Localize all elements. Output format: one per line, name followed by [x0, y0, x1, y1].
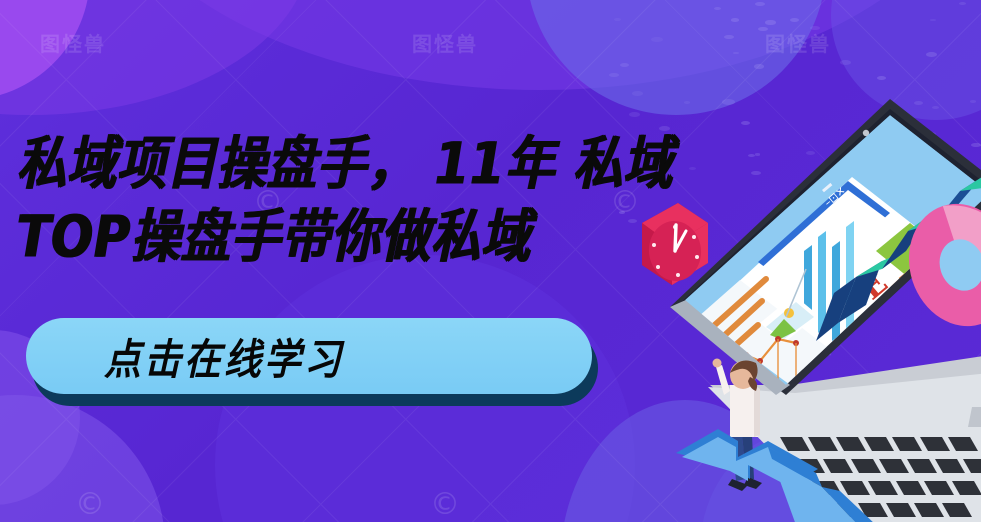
- title-line-1: 私域项目操盘手， 11年 私域: [16, 128, 776, 201]
- banner-canvas: –⊡✕ E: [0, 0, 981, 522]
- isometric-laptop-illustration: –⊡✕ E: [590, 55, 981, 522]
- title-line-2: TOP操盘手带你做私域: [16, 201, 776, 274]
- page-title: 私域项目操盘手， 11年 私域 TOP操盘手带你做私域: [16, 128, 776, 263]
- button-face[interactable]: 点击在线学习: [26, 318, 592, 394]
- learn-online-button[interactable]: 点击在线学习: [26, 318, 596, 406]
- button-label: 点击在线学习: [104, 325, 344, 387]
